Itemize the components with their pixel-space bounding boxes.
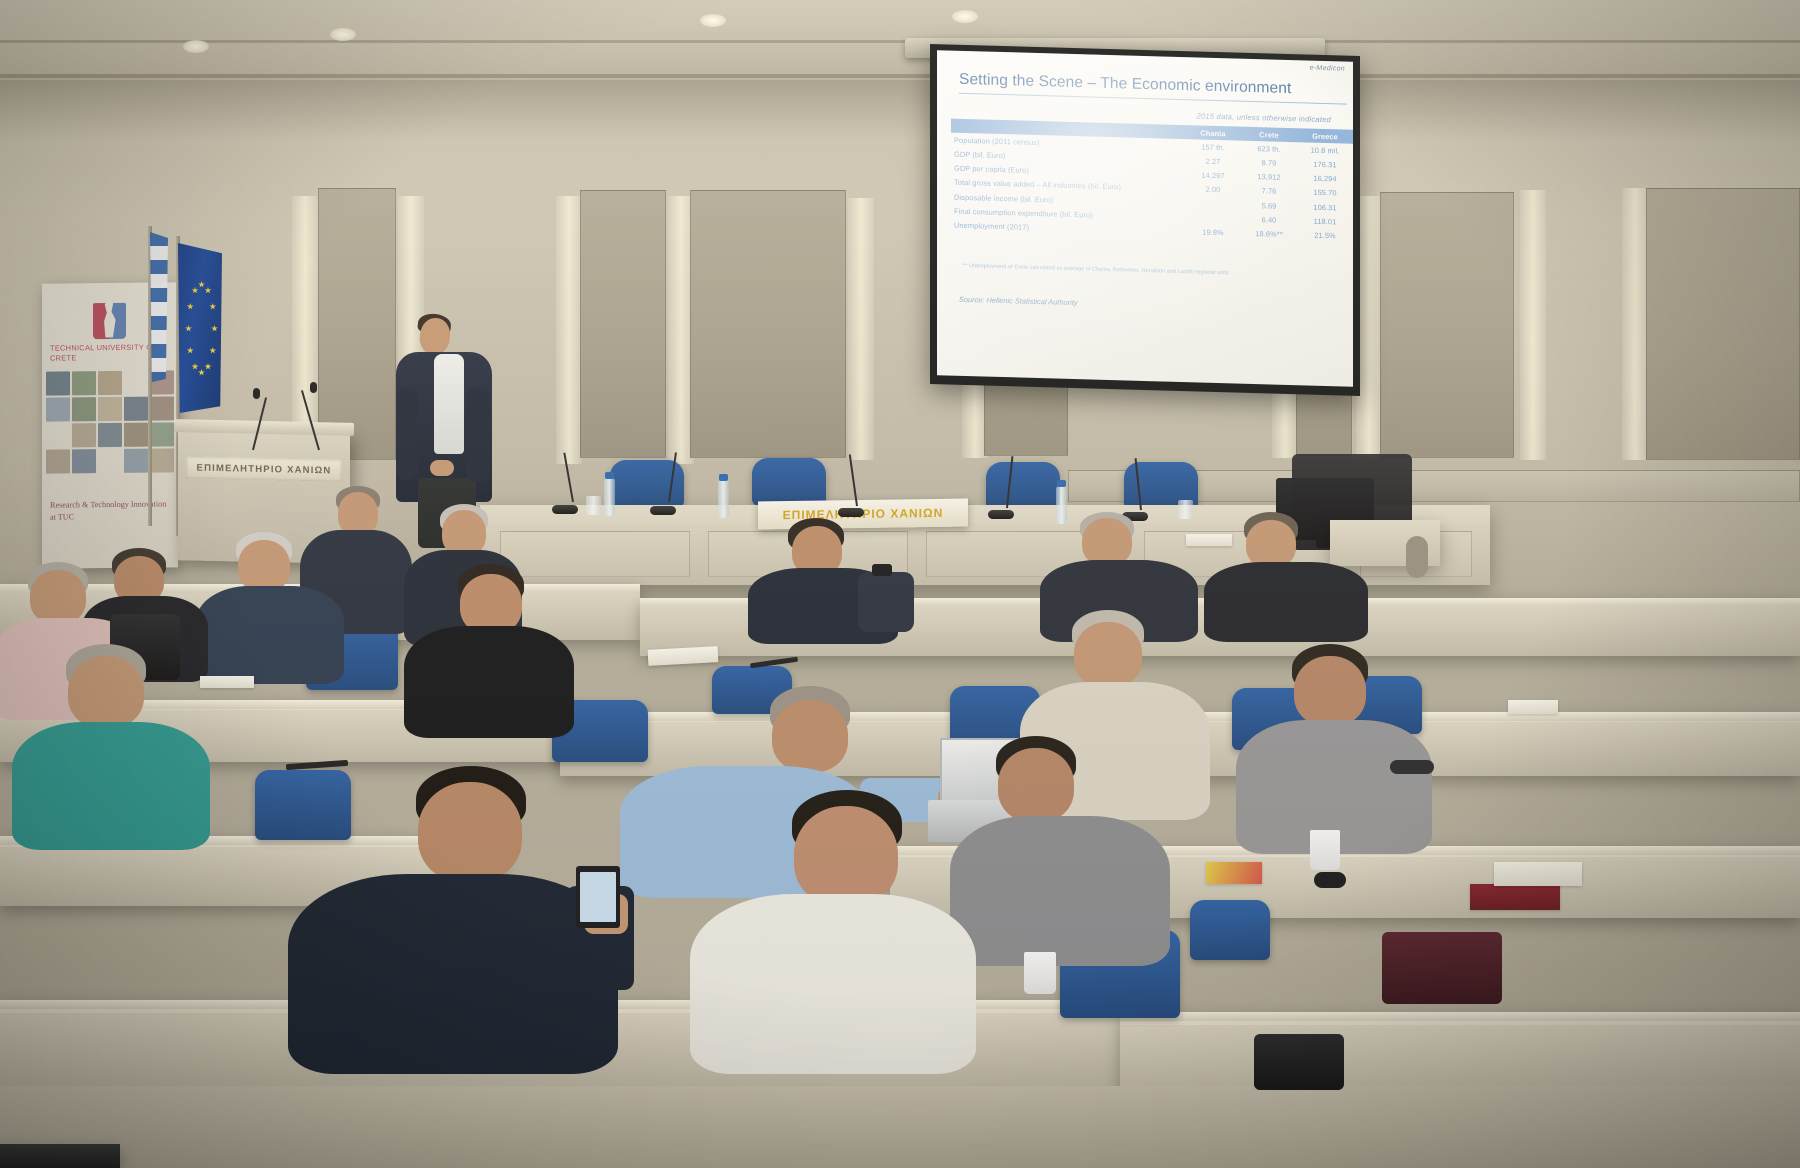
papers [648,646,719,666]
bottle-cap [1057,480,1066,487]
banner-photo-tile [72,397,96,421]
slide-data-note: 2015 data, unless otherwise indicated [1197,111,1331,124]
table-header-greece: Greece [1297,128,1353,144]
bench-surface [1120,1012,1800,1021]
cell-crete: 18.6%** [1241,226,1297,242]
banner-photo-tile [124,397,148,421]
desk-microphone-base [650,506,676,515]
eyeglasses [1390,760,1434,774]
banner-photo-tile [46,423,70,447]
wall-panel [580,190,666,458]
wall-light-strip [848,198,874,460]
university-crest-icon [93,297,127,341]
eu-star-icon [198,369,205,376]
eu-star-icon [211,325,218,332]
podium-microphone-head [253,388,260,399]
cell-crete: 5.69 [1241,198,1297,214]
smartphone-screen[interactable] [580,872,616,922]
lecture-hall-photo: e-Medicon Setting the Scene – The Econom… [0,0,1800,1168]
projection-screen: e-Medicon Setting the Scene – The Econom… [937,50,1353,387]
panel-chair [752,458,826,506]
cell-chania: 2.27 [1185,153,1241,169]
cell-greece: 16,294 [1297,171,1353,187]
cell-chania [1185,196,1241,212]
presenter-arm-left [396,388,418,480]
water-bottle [718,480,729,518]
podium-microphone-head [310,382,317,393]
cell-crete: 13,912 [1241,169,1297,185]
banner-tagline: Research & Technology Innovation at TUC [50,498,172,524]
cell-greece: 106.31 [1297,199,1353,215]
paper-cup [1024,952,1056,994]
projection-screen-frame: e-Medicon Setting the Scene – The Econom… [930,44,1360,396]
economic-table: Chania Crete Greece Population (2011 cen… [951,119,1353,244]
ceiling-seam [0,40,1800,43]
cell-chania [1185,210,1241,226]
ceiling-downlight [952,10,978,23]
chair-handle [1406,536,1428,578]
cell-greece: 118.01 [1297,213,1353,229]
desk-front-panel [500,531,690,577]
eu-star-icon [187,347,194,354]
floor-step-front [0,1086,1800,1168]
paper-cup [1310,830,1340,870]
wall-upper-shadow [0,80,1800,140]
papers [1508,700,1558,714]
bag [1254,1034,1344,1090]
eu-star-icon [192,363,199,370]
banner-photo-tile [46,397,70,421]
podium-top-surface [174,419,354,436]
banner-photo-tile [150,448,174,472]
wall-panel [318,188,396,460]
banner-photo-tile [124,423,148,447]
banner-photo-tile [72,449,96,473]
water-bottle [1056,486,1067,524]
presenter-shirt [434,354,464,454]
podium-nameplate-text: ΕΠΙΜΕΛΗΤΗΡΙΟ ΧΑΝΙΩΝ [197,462,332,476]
cell-crete: 7.76 [1241,183,1297,199]
cell-chania: 157 th. [1185,139,1241,155]
cell-crete: 6.40 [1241,212,1297,228]
cell-chania: 19.8% [1185,224,1241,240]
banner-photo-mosaic [46,370,174,491]
banner-photo-tile [98,397,122,421]
eu-flag [178,243,222,413]
bottle-cap [719,474,728,481]
drinking-glass [586,496,601,515]
cell-greece: 176.31 [1297,157,1353,173]
slide-source: Source: Hellenic Statistical Authority [959,295,1077,307]
cell-crete: 623 th. [1241,141,1297,157]
ceiling-downlight [330,28,356,41]
wall-light-strip [556,196,582,464]
cell-crete: 8.79 [1241,155,1297,171]
greek-flag [150,232,168,382]
eyeglasses [200,676,254,688]
cell-chania: 14,297 [1185,168,1241,184]
eu-star-icon [192,287,199,294]
bag [1382,932,1502,1004]
eu-star-icon [185,325,192,332]
presenter-hands [430,460,454,476]
papers [1494,862,1582,886]
ceiling-downlight [183,40,209,53]
eu-star-icon [187,303,194,310]
table-header-crete: Crete [1241,127,1297,143]
ceiling-seam-lower [0,74,1800,78]
banner-photo-tile [46,371,70,395]
wall-panel [690,190,846,458]
panel-chair [986,462,1060,510]
table-header-chania: Chania [1185,125,1241,141]
podium-nameplate: ΕΠΙΜΕΛΗΤΗΡΙΟ ΧΑΝΙΩΝ [186,456,342,481]
banner-photo-tile [124,449,148,473]
banner-photo-tile [72,423,96,447]
cell-greece: 10.8 mil. [1297,142,1353,158]
cell-chania: 2.00 [1185,182,1241,198]
cell-greece: 155.70 [1297,185,1353,201]
desk-microphone-base [838,508,864,517]
computer-mouse [1314,872,1346,888]
banner-photo-tile [124,371,148,395]
eu-star-icon [209,347,216,354]
slide-logo: e-Medicon [1310,65,1345,73]
bottle-cap [605,472,614,479]
banner-photo-tile [98,371,122,395]
ceiling-downlight [700,14,726,27]
audience-chair [1190,900,1270,960]
audience-chair [255,770,351,840]
banner-photo-tile [150,396,174,420]
banner-photo-tile [98,423,122,447]
eu-star-icon [198,281,205,288]
colorful-item [1206,862,1262,884]
water-bottle [604,478,615,516]
notebook [1470,884,1560,910]
foreground-object [0,1144,120,1168]
wall-light-strip [1622,188,1648,460]
wall-light-strip [1520,190,1546,460]
eu-star-icon [209,303,216,310]
wall-panel [1646,188,1800,460]
drinking-glass [1178,500,1193,519]
eu-star-icon [205,287,212,294]
cell-greece: 21.5% [1297,228,1353,244]
banner-photo-tile [46,449,70,473]
banner-photo-tile [72,371,96,395]
desk-microphone-base [988,510,1014,519]
presenter-arm-right [466,388,490,482]
desk-papers [1186,534,1232,546]
banner-photo-tile [98,449,122,473]
wall-panel [1380,192,1514,458]
eu-star-icon [205,363,212,370]
desk-microphone-base [552,505,578,514]
slide-footnote: ** Unemployment of Crete calculated as a… [963,263,1339,280]
banner-photo-tile [150,422,174,446]
